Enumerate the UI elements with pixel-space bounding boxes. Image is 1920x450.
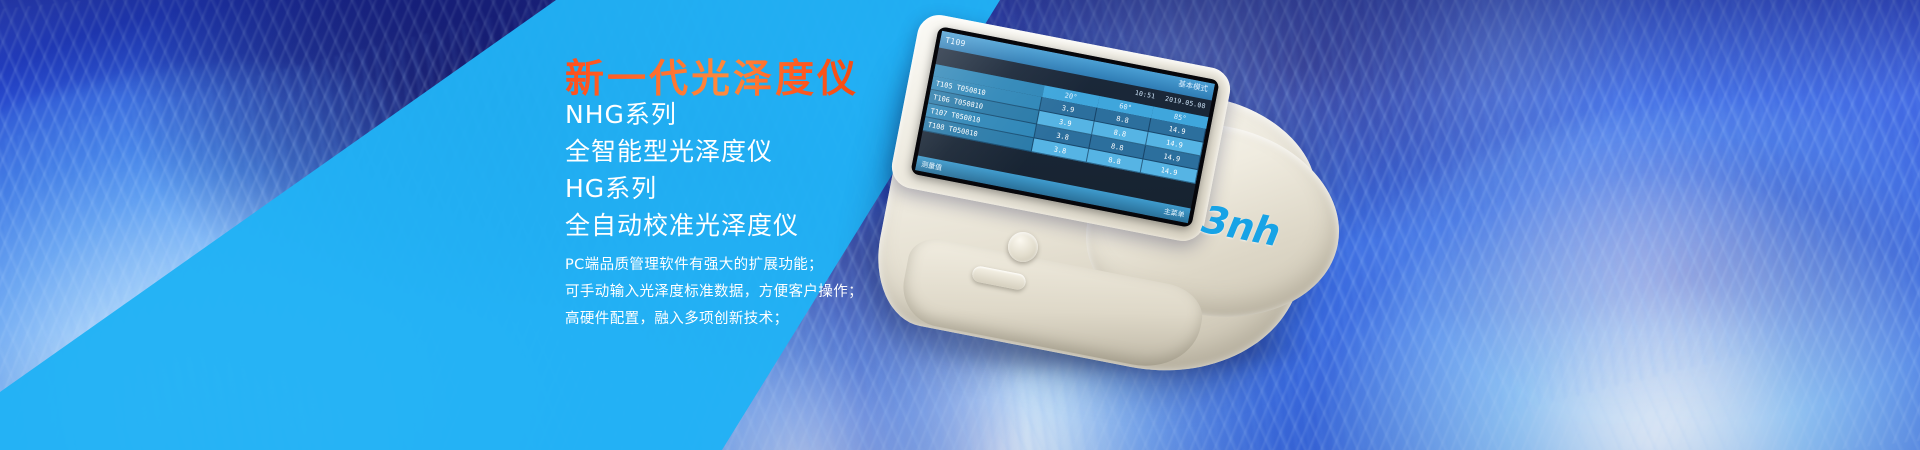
screen-time: 10:51 bbox=[1134, 89, 1156, 101]
gloss-meter-device: T109 基本模式 10:51 2019.05.08 20° 60° 85° bbox=[880, 18, 1360, 378]
feature-line-1: PC端品质管理软件有强大的扩展功能； bbox=[565, 253, 823, 274]
feature-line-3: 高硬件配置，融入多项创新技术； bbox=[565, 307, 789, 328]
banner-stage: 新一代光泽度仪 NHG系列 全智能型光泽度仪 HG系列 全自动校准光泽度仪 PC… bbox=[0, 0, 1920, 450]
subtitle-line-3: HG系列 bbox=[565, 169, 657, 205]
feature-line-2: 可手动输入光泽度标准数据，方便客户操作； bbox=[565, 280, 863, 301]
screen-sample-id: T109 bbox=[945, 36, 967, 49]
subtitle-line-1: NHG系列 bbox=[565, 95, 677, 131]
screen-softkey-right[interactable]: 主菜单 bbox=[1163, 206, 1186, 220]
screen-mode-label: 基本模式 bbox=[1177, 78, 1209, 95]
subtitle-line-2: 全智能型光泽度仪 bbox=[565, 132, 773, 168]
subtitle-line-4: 全自动校准光泽度仪 bbox=[565, 206, 799, 242]
screen-softkey-left[interactable]: 测量值 bbox=[920, 159, 943, 173]
